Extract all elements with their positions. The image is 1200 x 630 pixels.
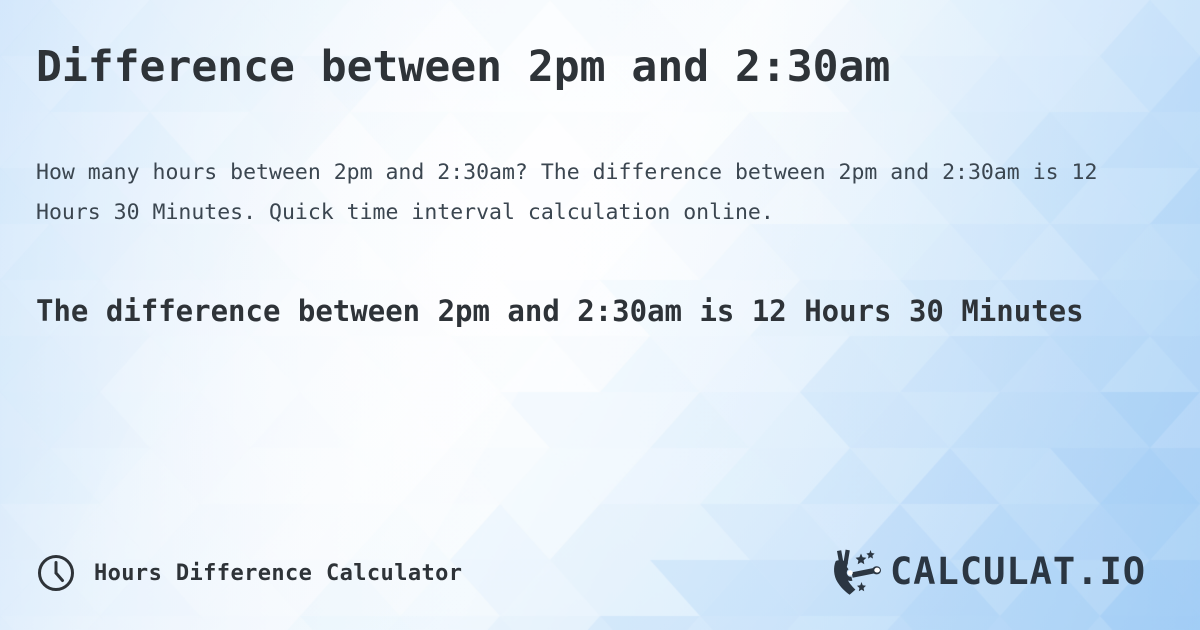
- page-description: How many hours between 2pm and 2:30am? T…: [36, 153, 1146, 233]
- magic-wand-hand-icon: [830, 548, 886, 598]
- page-container: Difference between 2pm and 2:30am How ma…: [0, 0, 1200, 630]
- brand-wordmark: CALCULAT.IO: [890, 553, 1178, 593]
- brand-wordmark-text: CALCULAT.IO: [890, 553, 1146, 593]
- footer-label: Hours Difference Calculator: [94, 561, 462, 586]
- footer: Hours Difference Calculator: [36, 548, 1178, 598]
- brand-logo[interactable]: CALCULAT.IO: [830, 548, 1178, 598]
- result-heading: The difference between 2pm and 2:30am is…: [36, 287, 1096, 336]
- clock-icon: [36, 553, 76, 593]
- footer-branding-left: Hours Difference Calculator: [36, 553, 462, 593]
- page-title: Difference between 2pm and 2:30am: [36, 44, 1164, 91]
